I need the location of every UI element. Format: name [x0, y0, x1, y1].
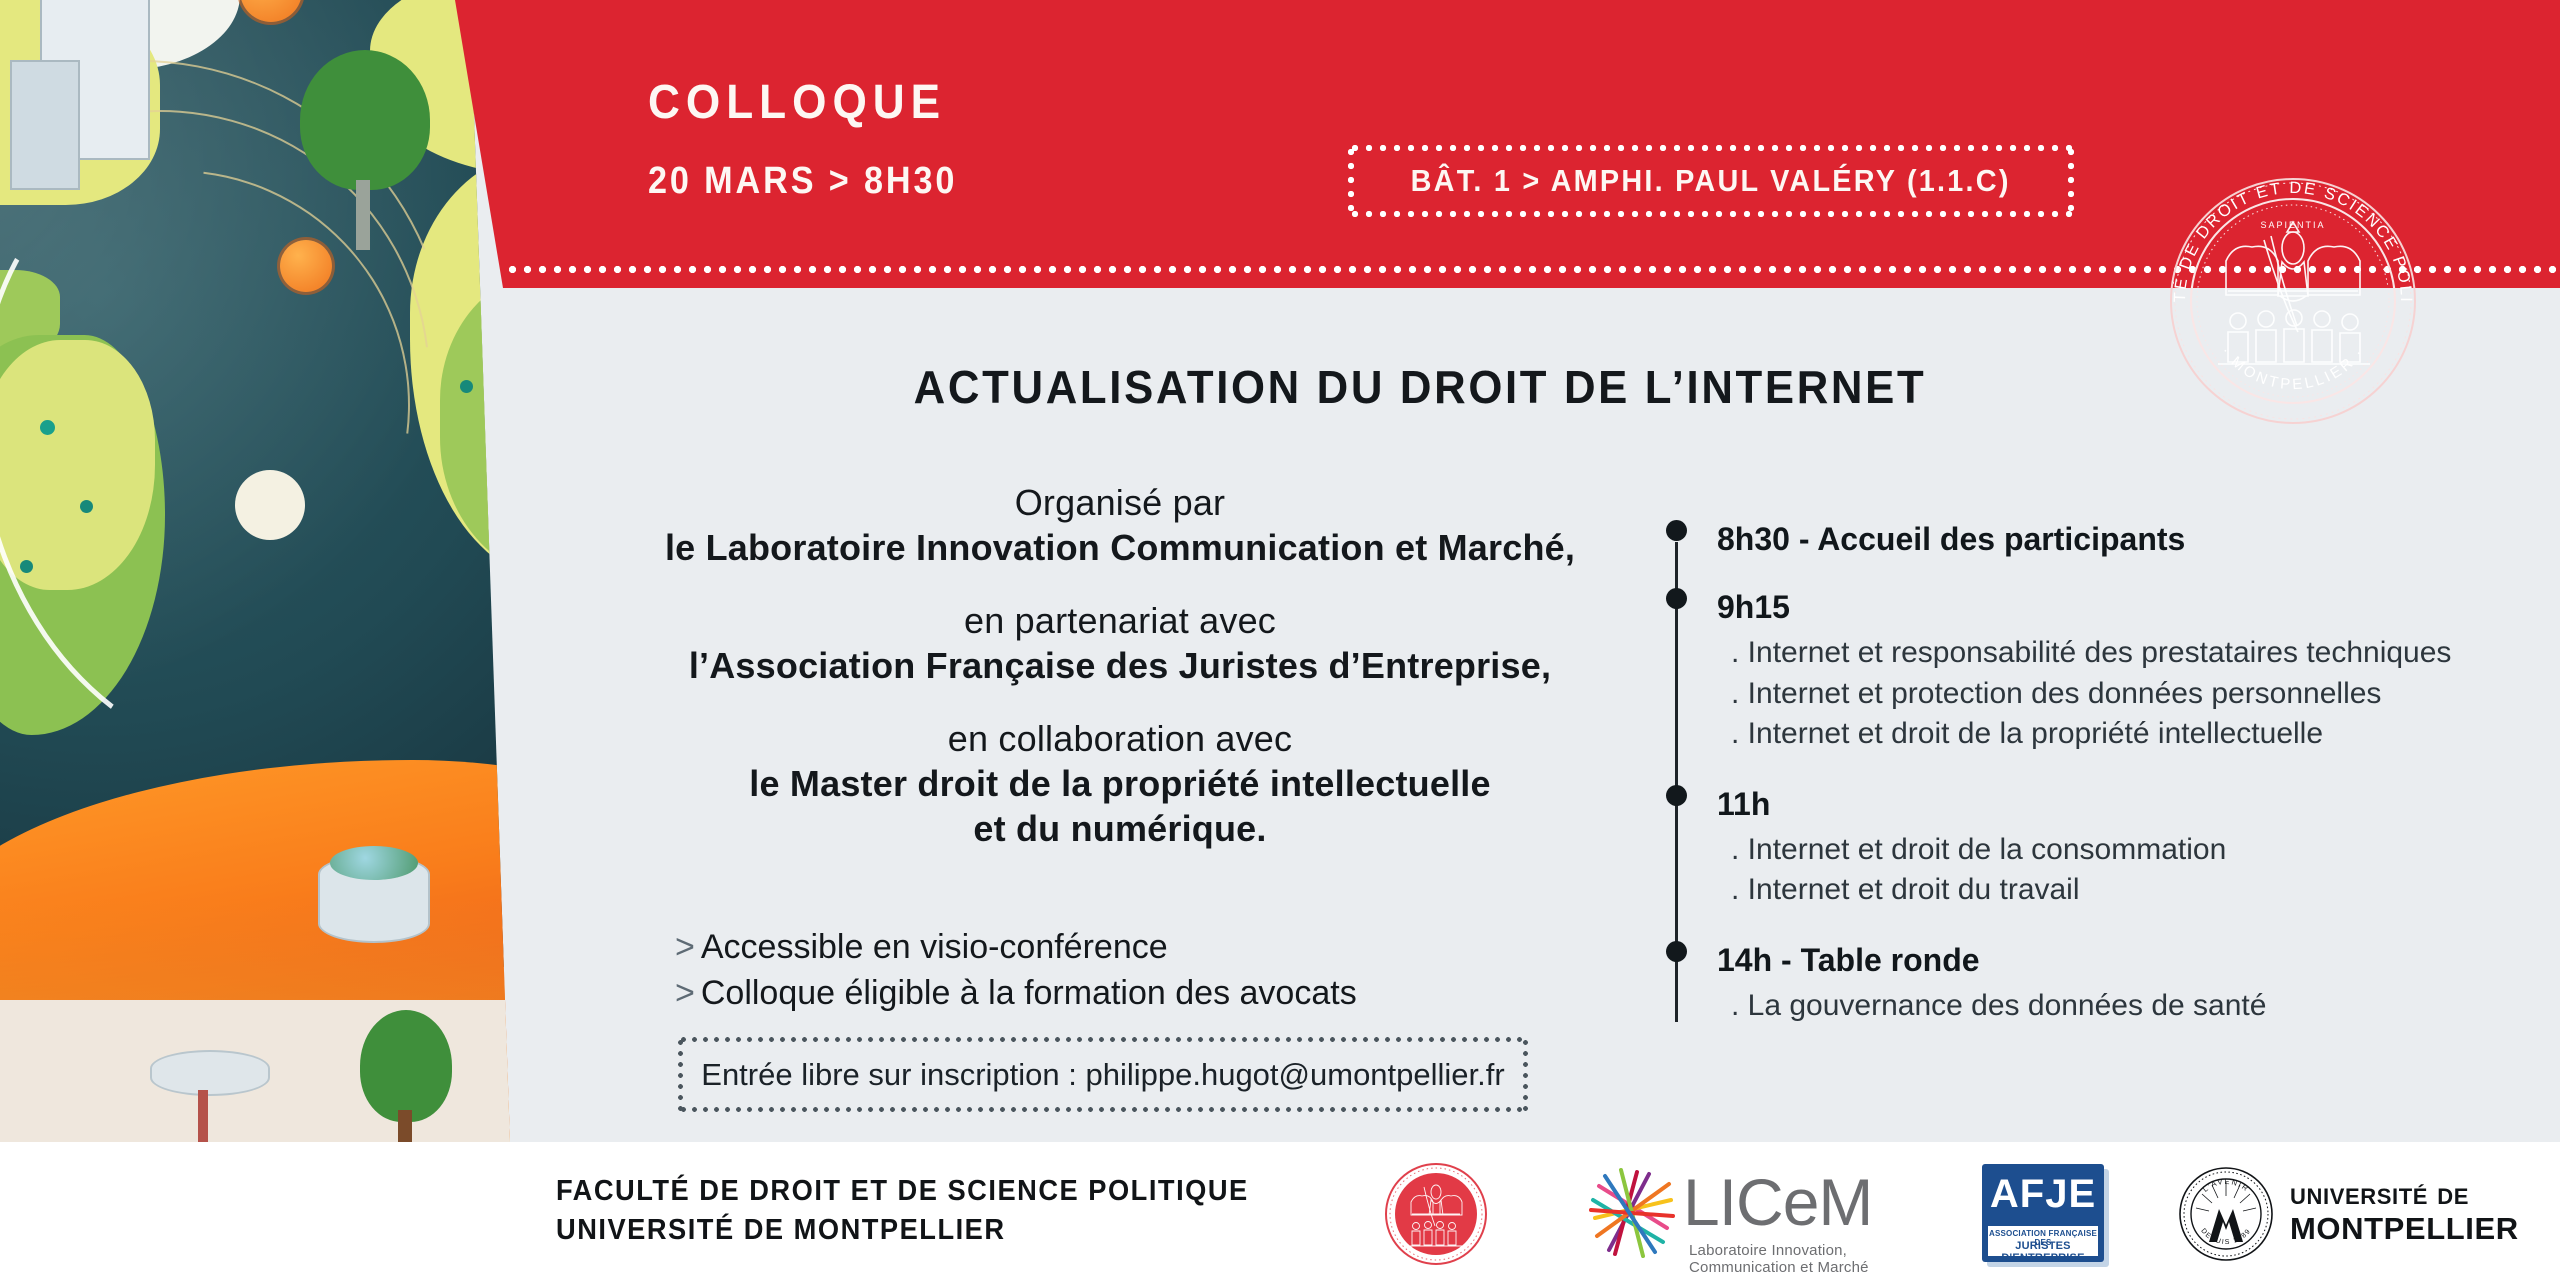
organizer-line: Organisé par: [640, 480, 1600, 525]
faculty-seal-icon: FACULTÉ DE DROIT ET DE SCIENCE POLITIQUE…: [2168, 176, 2418, 426]
slot-time: 11h: [1717, 785, 2475, 823]
notes-list: >Accessible en visio-conférence >Colloqu…: [675, 925, 1357, 1016]
footer-faculty-name: FACULTÉ DE DROIT ET DE SCIENCE POLITIQUE…: [556, 1172, 1293, 1250]
svg-text:FACULTÉ DE DROIT ET DE SCIENCE: FACULTÉ DE DROIT ET DE SCIENCE POLITIQUE: [2168, 176, 2415, 304]
licem-wordmark: LICeM: [1683, 1164, 1872, 1240]
slot-item: . Internet et droit de la consommation: [1717, 830, 2475, 871]
poster-canvas: COLLOQUE 20 MARS > 8H30 BÂT. 1 > AMPHI. …: [0, 0, 2560, 1280]
list-item: >Colloque éligible à la formation des av…: [675, 971, 1357, 1017]
chevron-right-icon: >: [675, 974, 695, 1012]
programme-timeline: 8h30 - Accueil des participants 9h15 . I…: [1675, 520, 2475, 1026]
slot-time: 14h - Table ronde: [1717, 941, 2475, 979]
venue-label: BÂT. 1 > AMPHI. PAUL VALÉRY (1.1.C): [1411, 163, 2011, 199]
afje-subtitle-strip: ASSOCIATION FRANÇAISE DES JURISTES D'ENT…: [1988, 1226, 2098, 1256]
timeline-bullet-icon: [1666, 941, 1687, 962]
licem-tagline: Laboratoire Innovation, Communication et…: [1689, 1242, 1915, 1276]
timeline-bullet-icon: [1666, 520, 1687, 541]
data-center-dish: [330, 846, 418, 880]
slot-item: . Internet et responsabilité des prestat…: [1717, 633, 2475, 674]
registration-box: Entrée libre sur inscription : philippe.…: [678, 1037, 1528, 1112]
foreground-sand: [0, 1000, 640, 1142]
venue-box: BÂT. 1 > AMPHI. PAUL VALÉRY (1.1.C): [1348, 145, 2074, 217]
note-label: Accessible en visio-conférence: [701, 928, 1168, 966]
um-line-1: UNIVERSITÉ DE: [2290, 1176, 2519, 1211]
slot-time: 9h15: [1717, 588, 2475, 626]
building-block: [150, 1050, 270, 1096]
spacer: [640, 688, 1600, 716]
slot-items: . Internet et responsabilité des prestat…: [1717, 633, 2475, 755]
slot-item: . Internet et droit de la propriété inte…: [1717, 714, 2475, 755]
slot-items: . La gouvernance des données de santé: [1717, 986, 2475, 1027]
organizers-block: Organisé par le Laboratoire Innovation C…: [640, 480, 1600, 851]
slot-item: . Internet et droit du travail: [1717, 870, 2475, 911]
um-line-1-small: DE: [2437, 1184, 2469, 1209]
tree-trunk: [356, 180, 370, 250]
list-item: >Accessible en visio-conférence: [675, 925, 1357, 971]
table-stem: [198, 1090, 208, 1142]
afje-logo: AFJE ASSOCIATION FRANÇAISE DES JURISTES …: [1982, 1164, 2104, 1262]
licem-logo: LICeM Laboratoire Innovation, Communicat…: [1585, 1158, 1915, 1270]
white-hub-circle: [235, 470, 305, 540]
svg-text:· MONTPELLIER ·: · MONTPELLIER ·: [2217, 343, 2368, 393]
um-seal-icon: L’AVENIR DEPUIS 1289: [2178, 1166, 2274, 1262]
faculty-seal-icon-small: [1384, 1162, 1488, 1266]
footer-bar: FACULTÉ DE DROIT ET DE SCIENCE POLITIQUE…: [0, 1142, 2560, 1280]
organizer-line: le Laboratoire Innovation Communication …: [640, 525, 1600, 570]
organizer-line: en collaboration avec: [640, 716, 1600, 761]
timeline-bullet-icon: [1666, 785, 1687, 806]
organizer-line: en partenariat avec: [640, 598, 1600, 643]
slot-items: . Internet et droit de la consommation .…: [1717, 830, 2475, 912]
event-date: 20 MARS > 8H30: [648, 160, 957, 203]
city-dot: [560, 320, 574, 334]
network-node: [280, 240, 332, 292]
timeline-bullet-icon: [1666, 588, 1687, 609]
tree-canopy: [300, 50, 430, 190]
afje-subtitle-2: JURISTES D'ENTREPRISE: [1988, 1240, 2098, 1262]
spacer: [640, 570, 1600, 598]
organizer-line: et du numérique.: [640, 806, 1600, 851]
faculty-line-1: FACULTÉ DE DROIT ET DE SCIENCE POLITIQUE: [556, 1172, 1249, 1211]
slot-item: . La gouvernance des données de santé: [1717, 986, 2475, 1027]
organizer-line: le Master droit de la propriété intellec…: [640, 761, 1600, 806]
timeline-slot: 8h30 - Accueil des participants: [1675, 520, 2475, 558]
timeline-slot: 11h . Internet et droit de la consommati…: [1675, 785, 2475, 911]
afje-wordmark: AFJE: [1982, 1172, 2104, 1217]
note-label: Colloque éligible à la formation des avo…: [701, 974, 1357, 1012]
timeline-slot: 9h15 . Internet et responsabilité des pr…: [1675, 588, 2475, 755]
um-line-1-main: UNIVERSITÉ: [2290, 1184, 2428, 1209]
tree-canopy: [360, 1010, 452, 1122]
skyscraper: [10, 60, 80, 190]
um-line-2: MONTPELLIER: [2290, 1211, 2519, 1246]
licem-starburst-icon: [1585, 1164, 1681, 1260]
spacer: [1675, 755, 2475, 785]
registration-label[interactable]: Entrée libre sur inscription : philippe.…: [701, 1057, 1504, 1093]
slot-time: 8h30 - Accueil des participants: [1717, 520, 2475, 558]
chevron-right-icon: >: [675, 928, 695, 966]
universite-montpellier-logo: L’AVENIR DEPUIS 1289 UNIVERSITÉ DE MONTP…: [2178, 1162, 2508, 1266]
timeline-slot: 14h - Table ronde . La gouvernance des d…: [1675, 941, 2475, 1026]
um-wordmark: UNIVERSITÉ DE MONTPELLIER: [2290, 1176, 2519, 1247]
organizer-line: l’Association Française des Juristes d’E…: [640, 643, 1600, 688]
page-title: ACTUALISATION DU DROIT DE L’INTERNET: [679, 360, 2161, 414]
spacer: [1675, 911, 2475, 941]
slot-item: . Internet et protection des données per…: [1717, 674, 2475, 715]
city-dot: [460, 380, 473, 393]
event-kicker: COLLOQUE: [648, 75, 946, 130]
spacer: [1675, 558, 2475, 588]
city-dot: [620, 400, 635, 415]
tree-trunk: [398, 1110, 412, 1142]
faculty-line-2: UNIVERSITÉ DE MONTPELLIER: [556, 1211, 1249, 1250]
